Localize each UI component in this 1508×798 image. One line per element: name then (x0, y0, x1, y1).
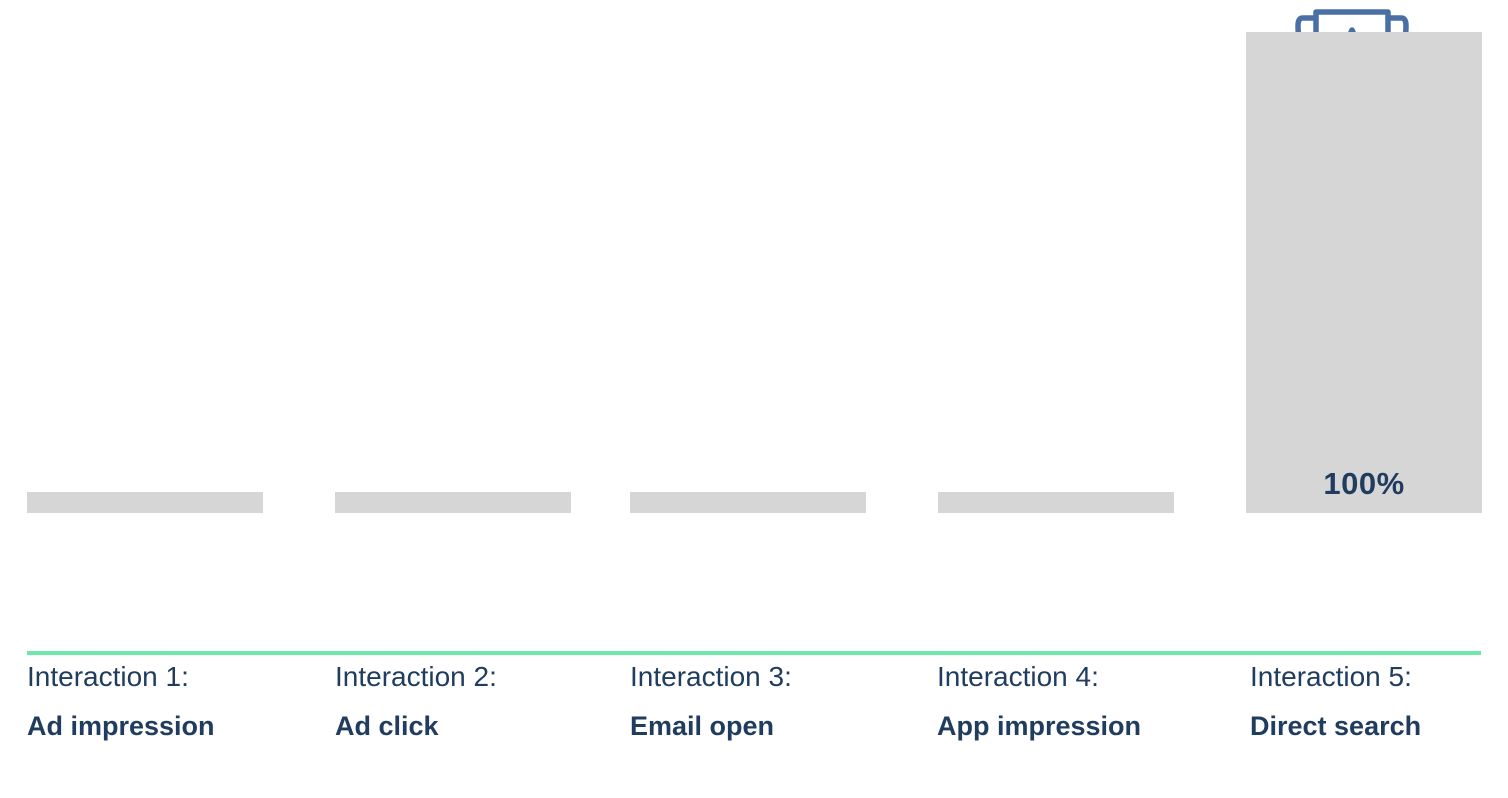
bar-series: 100% (0, 0, 1508, 660)
step-name-3: Email open (630, 709, 890, 743)
label-group-1: Interaction 1: Ad impression (27, 660, 287, 743)
step-name-5: Direct search (1250, 709, 1508, 743)
label-group-5: Interaction 5: Direct search (1250, 660, 1508, 743)
category-labels: Interaction 1: Ad impression Interaction… (0, 660, 1508, 798)
bar-2[interactable] (335, 492, 571, 513)
step-label-1: Interaction 1: (27, 660, 287, 694)
step-label-3: Interaction 3: (630, 660, 890, 694)
label-group-2: Interaction 2: Ad click (335, 660, 595, 743)
step-label-4: Interaction 4: (937, 660, 1197, 694)
step-name-1: Ad impression (27, 709, 287, 743)
step-name-4: App impression (937, 709, 1197, 743)
bar-5[interactable] (1246, 32, 1482, 513)
baseline-axis (27, 651, 1481, 655)
step-label-5: Interaction 5: (1250, 660, 1508, 694)
funnel-chart-canvas: 100% Interaction 1: Ad impression Intera… (0, 0, 1508, 798)
bar-3[interactable] (630, 492, 866, 513)
step-label-2: Interaction 2: (335, 660, 595, 694)
bar-4[interactable] (938, 492, 1174, 513)
bar-value-5: 100% (1246, 466, 1482, 502)
bar-1[interactable] (27, 492, 263, 513)
label-group-3: Interaction 3: Email open (630, 660, 890, 743)
plot-area: 100% (0, 0, 1508, 660)
step-name-2: Ad click (335, 709, 595, 743)
label-group-4: Interaction 4: App impression (937, 660, 1197, 743)
